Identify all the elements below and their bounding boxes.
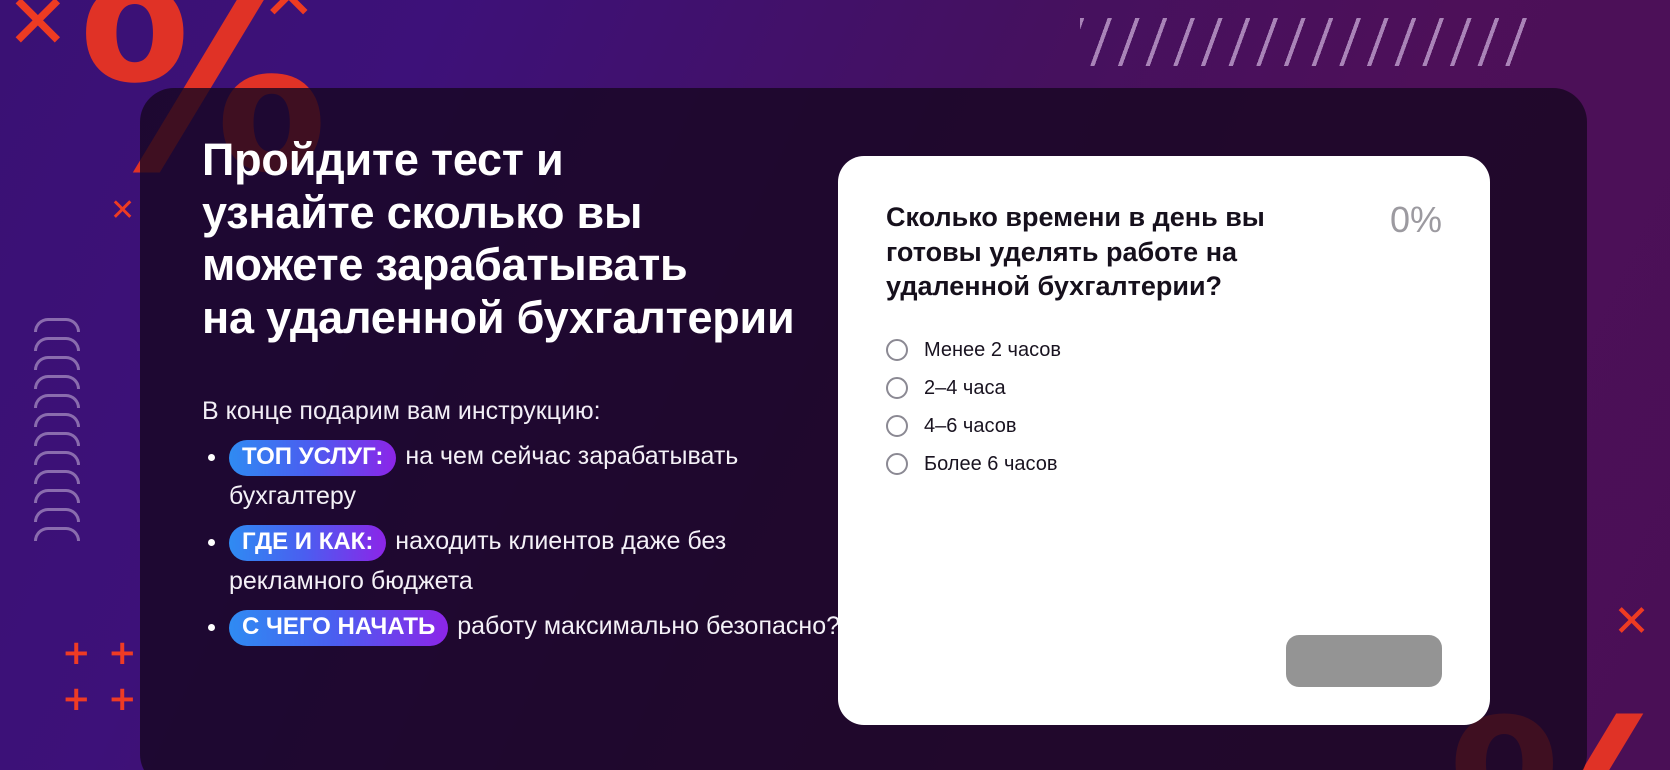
promo-intro-text: В конце подарим вам инструкцию:	[202, 395, 862, 428]
page-title: Пройдите тест и узнайте сколько вы может…	[202, 134, 862, 345]
arc-decoration	[34, 527, 80, 541]
content-panel: Пройдите тест и узнайте сколько вы может…	[140, 88, 1587, 770]
promo-bullet-list: ТОП УСЛУГ: на чем сейчас зарабатывать бу…	[202, 437, 862, 647]
promo-quiz-banner: % % ✕ ✕ ✕ ✕ ++++ Пройдите тест и узнайте…	[0, 0, 1670, 770]
promo-bullet-pill: ГДЕ И КАК:	[229, 525, 386, 561]
quiz-progress-percent: 0%	[1390, 200, 1442, 238]
arc-decoration	[34, 413, 80, 427]
radio-icon[interactable]	[886, 377, 908, 399]
plus-decoration: +	[108, 682, 137, 716]
arc-decoration	[34, 508, 80, 522]
arc-decoration	[34, 318, 80, 332]
quiz-option-1[interactable]: Менее 2 часов	[886, 331, 1442, 369]
radio-icon[interactable]	[886, 339, 908, 361]
promo-bullet-pill: ТОП УСЛУГ:	[229, 440, 396, 476]
plus-decoration: +	[108, 636, 137, 670]
diagonal-stripes-decoration	[1080, 18, 1530, 66]
quiz-option-label: Менее 2 часов	[924, 338, 1061, 362]
quiz-option-label: 4–6 часов	[924, 414, 1016, 438]
arc-decoration	[34, 394, 80, 408]
x-decoration-bottom-right: ✕	[1613, 600, 1650, 644]
quiz-option-4[interactable]: Более 6 часов	[886, 445, 1442, 483]
arc-decoration	[34, 470, 80, 484]
promo-bullet-item: С ЧЕГО НАЧАТЬ работу максимально безопас…	[202, 607, 862, 647]
promo-column: Пройдите тест и узнайте сколько вы может…	[202, 134, 862, 647]
x-decoration-top-middle: ✕	[262, 0, 316, 30]
plus-decoration: +	[62, 682, 91, 716]
promo-bullet-item: ТОП УСЛУГ: на чем сейчас зарабатывать бу…	[202, 437, 862, 516]
arc-decoration	[34, 337, 80, 351]
promo-bullet-text: работу максимально безопасно?	[450, 612, 840, 640]
promo-bullet-item: ГДЕ И КАК: находить клиентов даже без ре…	[202, 522, 862, 601]
x-decoration-middle-left: ✕	[110, 196, 135, 226]
radio-icon[interactable]	[886, 453, 908, 475]
quiz-question: Сколько времени в день вы готовы уделять…	[886, 200, 1326, 304]
arc-decoration	[34, 356, 80, 370]
quiz-card: Сколько времени в день вы готовы уделять…	[838, 156, 1490, 725]
promo-bullet-pill: С ЧЕГО НАЧАТЬ	[229, 610, 448, 646]
quiz-option-3[interactable]: 4–6 часов	[886, 407, 1442, 445]
quiz-option-label: Более 6 часов	[924, 452, 1057, 476]
plus-decoration: +	[62, 636, 91, 670]
quiz-header: Сколько времени в день вы готовы уделять…	[886, 200, 1442, 304]
quiz-option-2[interactable]: 2–4 часа	[886, 369, 1442, 407]
quiz-options-list: Менее 2 часов2–4 часа4–6 часовБолее 6 ча…	[886, 331, 1442, 483]
x-decoration-top-left: ✕	[6, 0, 70, 60]
submit-button[interactable]	[1286, 635, 1442, 687]
arc-decoration	[34, 489, 80, 503]
arc-stack-decoration	[34, 318, 80, 536]
arc-decoration	[34, 375, 80, 389]
quiz-option-label: 2–4 часа	[924, 376, 1006, 400]
arc-decoration	[34, 432, 80, 446]
arc-decoration	[34, 451, 80, 465]
radio-icon[interactable]	[886, 415, 908, 437]
